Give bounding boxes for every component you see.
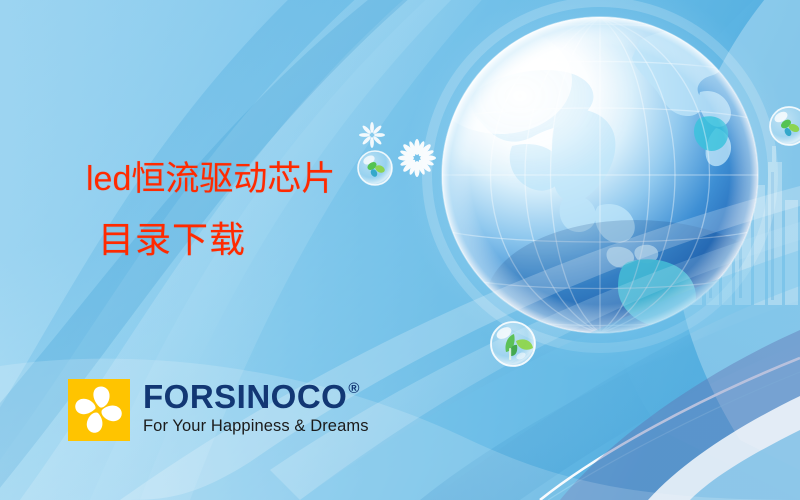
logo-tagline: For Your Happiness & Dreams: [143, 418, 369, 435]
logo-wordmark-text: FORSINOCO: [143, 380, 347, 413]
logo-wordmark: FORSINOCO®: [143, 380, 369, 413]
registered-trademark-icon: ®: [348, 381, 360, 396]
logo-text-group: FORSINOCO® For Your Happiness & Dreams: [143, 379, 369, 435]
bubble-pinwheel-top: [358, 151, 392, 185]
company-logo[interactable]: FORSINOCO® For Your Happiness & Dreams: [68, 379, 369, 441]
bubble-edge-right: [770, 107, 800, 145]
headline-line-1: led恒流驱动芯片: [86, 162, 335, 196]
bubble-leaf-center: [491, 322, 535, 366]
forsinoco-pinwheel-mark: [68, 379, 130, 441]
promo-banner: led恒流驱动芯片 目录下载 FORSINOCO® For Your Happi…: [0, 0, 800, 500]
headline-block: led恒流驱动芯片 目录下载: [86, 162, 335, 258]
headline-line-2: 目录下载: [98, 222, 335, 258]
